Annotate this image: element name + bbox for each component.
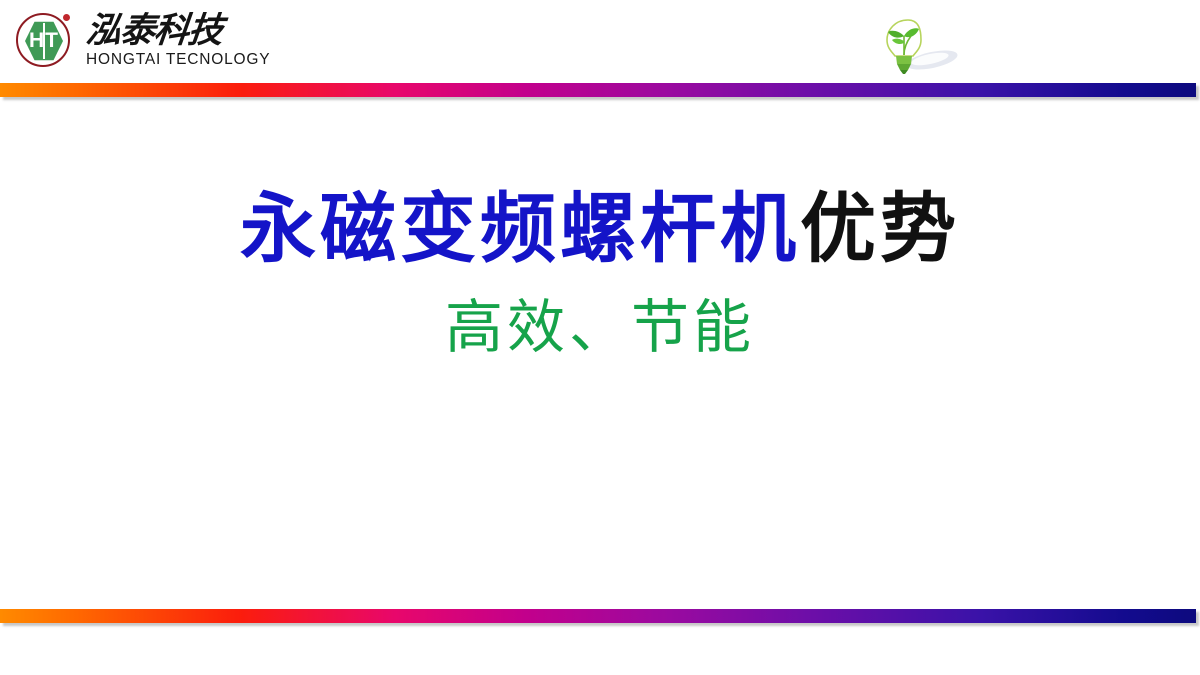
logo-accent-dot-icon (63, 14, 70, 21)
page-title: 永磁变频螺杆机优势 (0, 185, 1200, 272)
page-subtitle: 高效、节能 (0, 294, 1200, 361)
logo-company-name-en: HONGTAI TECNOLOGY (86, 52, 270, 68)
logo-hexagon-divider (43, 23, 45, 59)
title-area: 永磁变频螺杆机优势 高效、节能 (0, 185, 1200, 361)
page-title-primary: 永磁变频螺杆机 (240, 184, 800, 273)
logo-mark-icon: HT (14, 10, 76, 72)
eco-lightbulb-icon (878, 10, 964, 78)
page-title-secondary: 优势 (800, 184, 960, 273)
logo-company-name-cn: 泓泰科技 (84, 14, 272, 49)
slide-canvas: HT 泓泰科技 HONGTAI TECNOLOGY (0, 0, 1200, 675)
logo-wordmark: 泓泰科技 HONGTAI TECNOLOGY (86, 14, 270, 68)
company-logo: HT 泓泰科技 HONGTAI TECNOLOGY (14, 8, 270, 74)
gradient-rule-bottom (0, 609, 1196, 623)
gradient-rule-top (0, 83, 1196, 97)
